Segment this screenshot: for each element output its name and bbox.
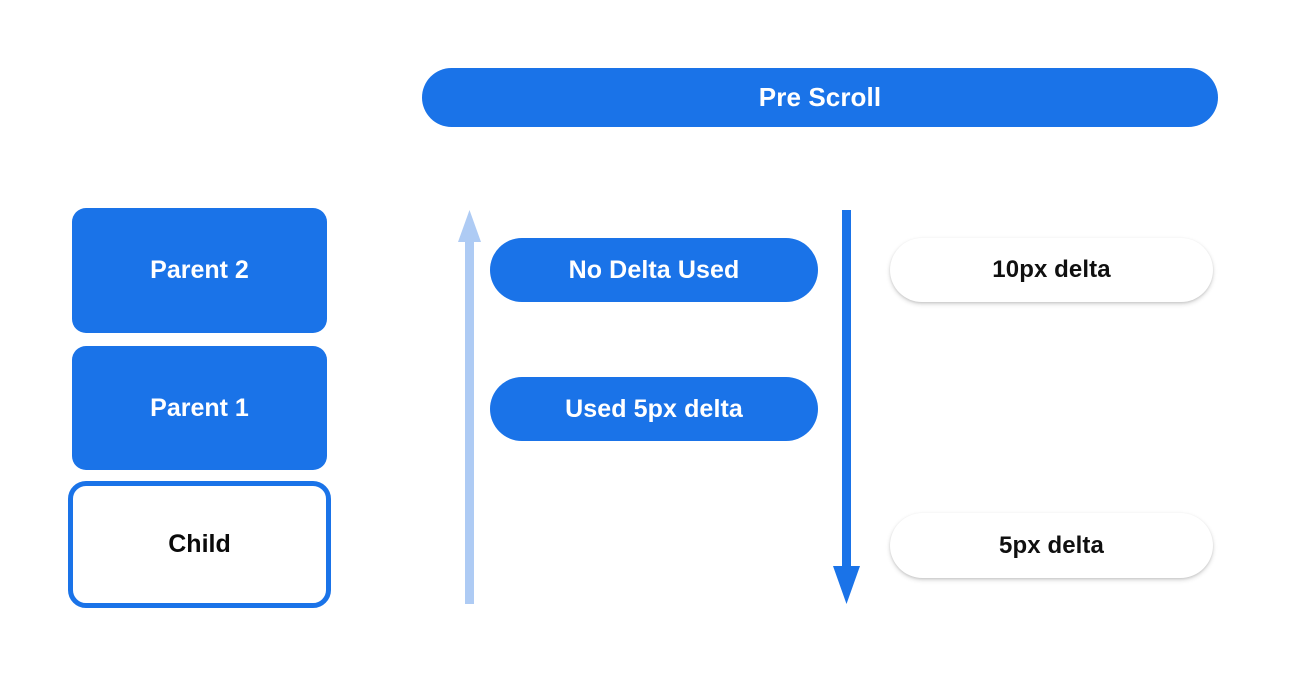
delta-5px-pill: 5px delta bbox=[890, 513, 1213, 578]
diagram-canvas: Pre Scroll Parent 2 Parent 1 Child No De… bbox=[0, 0, 1312, 680]
used-5px-delta-pill: Used 5px delta bbox=[490, 377, 818, 441]
node-child: Child bbox=[68, 481, 331, 608]
delta-5px-label: 5px delta bbox=[999, 532, 1104, 560]
node-parent-1-label: Parent 1 bbox=[150, 394, 249, 423]
node-parent-1: Parent 1 bbox=[72, 346, 327, 470]
delta-10px-label: 10px delta bbox=[992, 256, 1110, 284]
node-child-label: Child bbox=[168, 530, 231, 559]
used-5px-delta-label: Used 5px delta bbox=[565, 395, 743, 424]
no-delta-used-pill: No Delta Used bbox=[490, 238, 818, 302]
delta-10px-pill: 10px delta bbox=[890, 238, 1213, 302]
pre-scroll-label: Pre Scroll bbox=[759, 82, 881, 113]
scroll-down-arrow-icon bbox=[832, 208, 862, 606]
no-delta-used-label: No Delta Used bbox=[569, 256, 740, 285]
node-parent-2: Parent 2 bbox=[72, 208, 327, 333]
scroll-up-arrow-icon bbox=[456, 208, 482, 606]
pre-scroll-banner: Pre Scroll bbox=[422, 68, 1218, 127]
node-parent-2-label: Parent 2 bbox=[150, 256, 249, 285]
